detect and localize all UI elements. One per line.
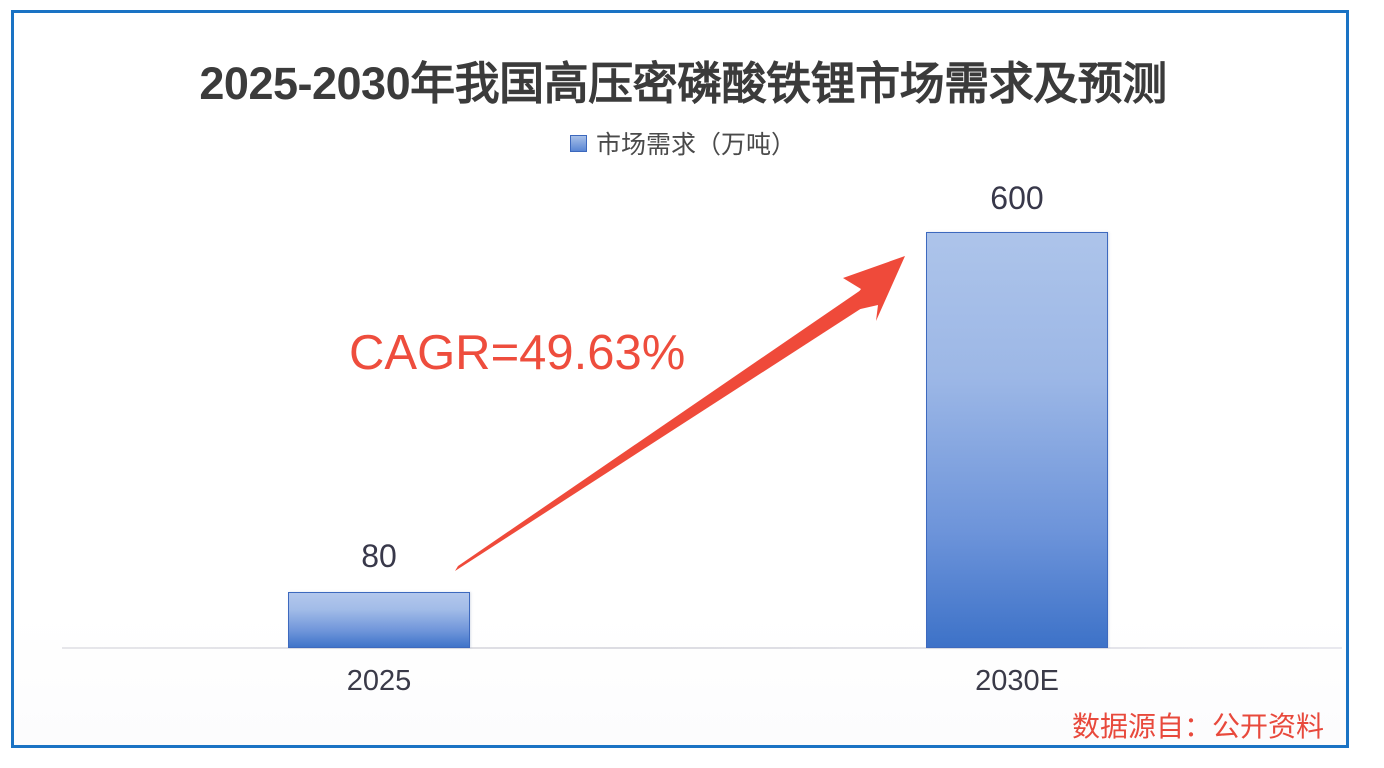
source-note: 数据源自：公开资料	[14, 705, 1324, 745]
bar-2025[interactable]	[288, 592, 470, 648]
chart-image: 2025-2030年我国高压密磷酸铁锂市场需求及预测 市场需求（万吨） 80 6…	[0, 0, 1384, 768]
cagr-annotation-label: CAGR=49.63%	[349, 325, 685, 381]
chart-title: 2025-2030年我国高压密磷酸铁锂市场需求及预测	[14, 47, 1352, 112]
category-axis-line	[62, 647, 1342, 649]
legend-label: 市场需求（万吨）	[596, 125, 796, 161]
chart-legend: 市场需求（万吨）	[14, 125, 1352, 161]
legend-swatch-icon	[570, 135, 587, 152]
category-label-2030e: 2030E	[926, 665, 1108, 698]
category-label-2025: 2025	[288, 665, 470, 698]
bar-value-label-2030e: 600	[926, 180, 1108, 217]
bar-2030e[interactable]	[926, 232, 1108, 648]
bar-value-label-2025: 80	[288, 538, 470, 575]
chart-frame-border: 2025-2030年我国高压密磷酸铁锂市场需求及预测 市场需求（万吨） 80 6…	[11, 10, 1349, 748]
